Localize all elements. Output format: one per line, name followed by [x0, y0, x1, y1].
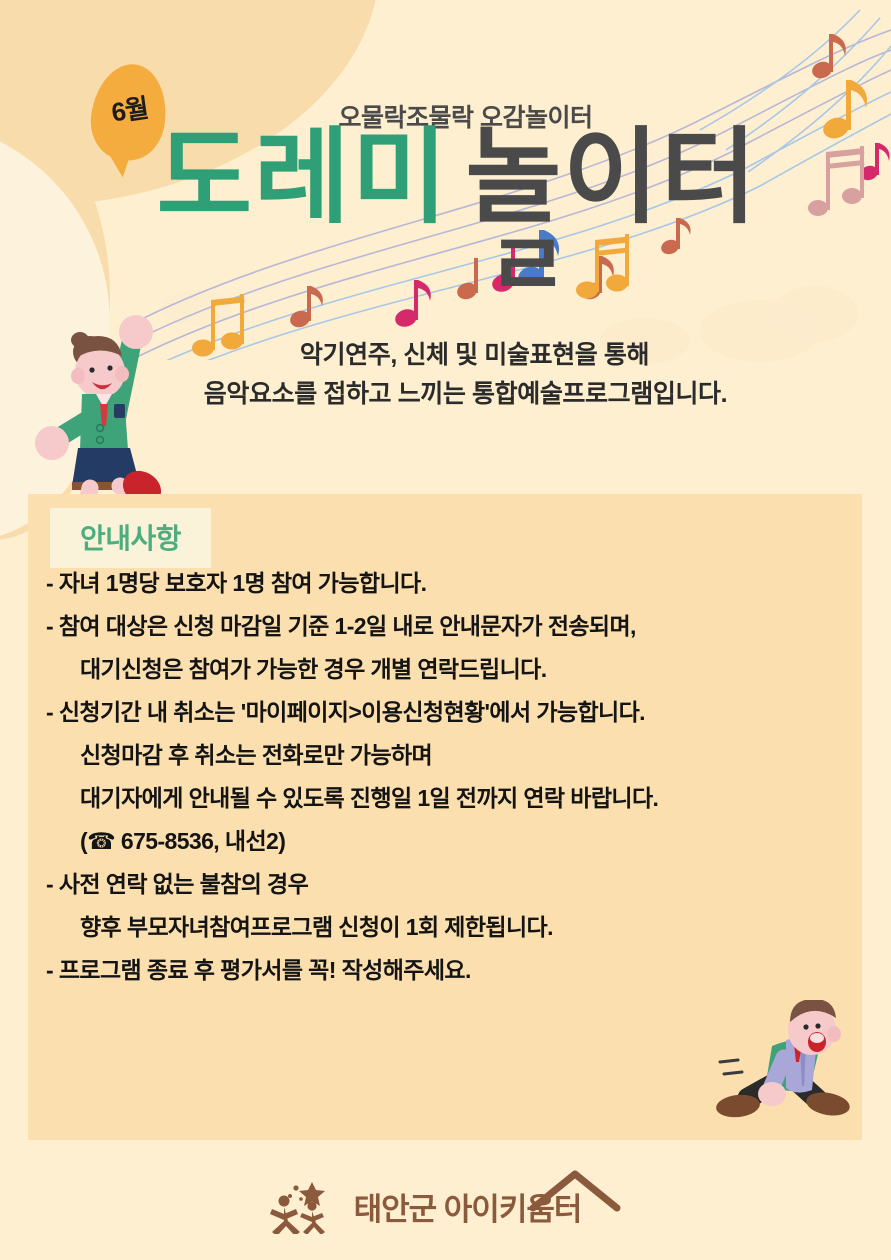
notice-item: 대기자에게 안내될 수 있도록 진행일 1일 전까지 연락 바랍니다. [46, 787, 848, 810]
notice-item: - 신청기간 내 취소는 '마이페이지>이용신청현황'에서 가능합니다. [46, 701, 848, 724]
notice-item: 대기신청은 참여가 가능한 경우 개별 연락드립니다. [46, 658, 848, 681]
running-boy-illustration [714, 1000, 874, 1145]
title-decor-jamo: ㄹ [487, 222, 568, 310]
notice-item: - 자녀 1명당 보호자 1명 참여 가능합니다. [46, 572, 848, 595]
notice-item: 향후 부모자녀참여프로그램 신청이 1회 제한됩니다. [46, 916, 848, 939]
notice-item: - 프로그램 종료 후 평가서를 꼭! 작성해주세요. [46, 959, 848, 982]
cloud-decor-2 [772, 286, 858, 342]
notice-item: - 참여 대상은 신청 마감일 기준 1-2일 내로 안내문자가 전송되며, [46, 615, 848, 638]
children-star-icon [268, 1178, 346, 1234]
title-word-doremi: 도레미 [156, 120, 449, 236]
notice-badge: 안내사항 [50, 508, 211, 568]
page-title: 도레미놀이터 [0, 126, 891, 230]
jumping-girl-illustration [28, 300, 178, 520]
house-roof-icon [527, 1168, 623, 1214]
footer-logo: 태안군 아이키움터 [0, 1178, 891, 1234]
notice-item: 신청마감 후 취소는 전화로만 가능하며 [46, 744, 848, 767]
notice-item: (☎ 675-8536, 내선2) [46, 830, 848, 853]
notice-list: - 자녀 1명당 보호자 1명 참여 가능합니다.- 참여 대상은 신청 마감일… [46, 572, 848, 1002]
notice-item: - 사전 연락 없는 불참의 경우 [46, 873, 848, 896]
poster-root: 6월 오물락조물락 오감놀이터 도레미놀이터 ㄹ 악기연주, 신체 및 미술표현… [0, 0, 891, 1260]
